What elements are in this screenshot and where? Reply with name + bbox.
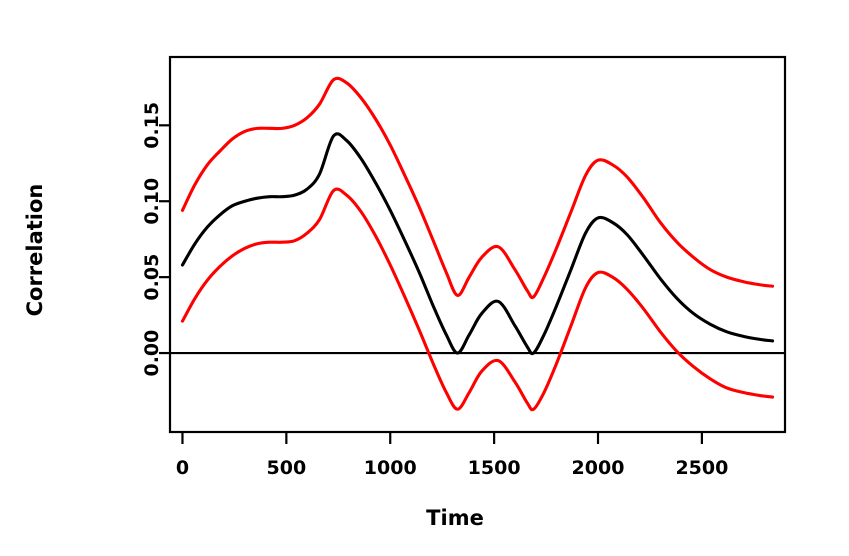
data-series-group [182, 78, 772, 409]
x-tick-label: 500 [267, 457, 307, 479]
x-tick-label: 0 [176, 457, 189, 479]
y-axis-tick-labels: 0.000.050.100.15 [141, 102, 163, 377]
x-tick-label: 1500 [468, 457, 521, 479]
y-tick-label: 0.05 [141, 254, 163, 301]
correlation-plot-figure: 0.000.050.100.15 05001000150020002500 Co… [0, 0, 849, 556]
x-tick-label: 1000 [364, 457, 417, 479]
series-line-lower-ci [182, 189, 772, 410]
y-axis-title: Correlation [23, 184, 47, 317]
y-axis-ticks [159, 125, 170, 353]
x-tick-label: 2000 [572, 457, 625, 479]
y-tick-label: 0.15 [141, 102, 163, 149]
plot-canvas: 0.000.050.100.15 05001000150020002500 Co… [0, 0, 849, 556]
y-tick-label: 0.10 [141, 178, 163, 225]
x-axis-ticks [182, 432, 701, 444]
y-tick-label: 0.00 [141, 330, 163, 377]
x-axis-tick-labels: 05001000150020002500 [176, 457, 728, 479]
x-axis-title: Time [426, 506, 484, 530]
series-line-upper-ci [182, 78, 772, 297]
x-tick-label: 2500 [675, 457, 728, 479]
